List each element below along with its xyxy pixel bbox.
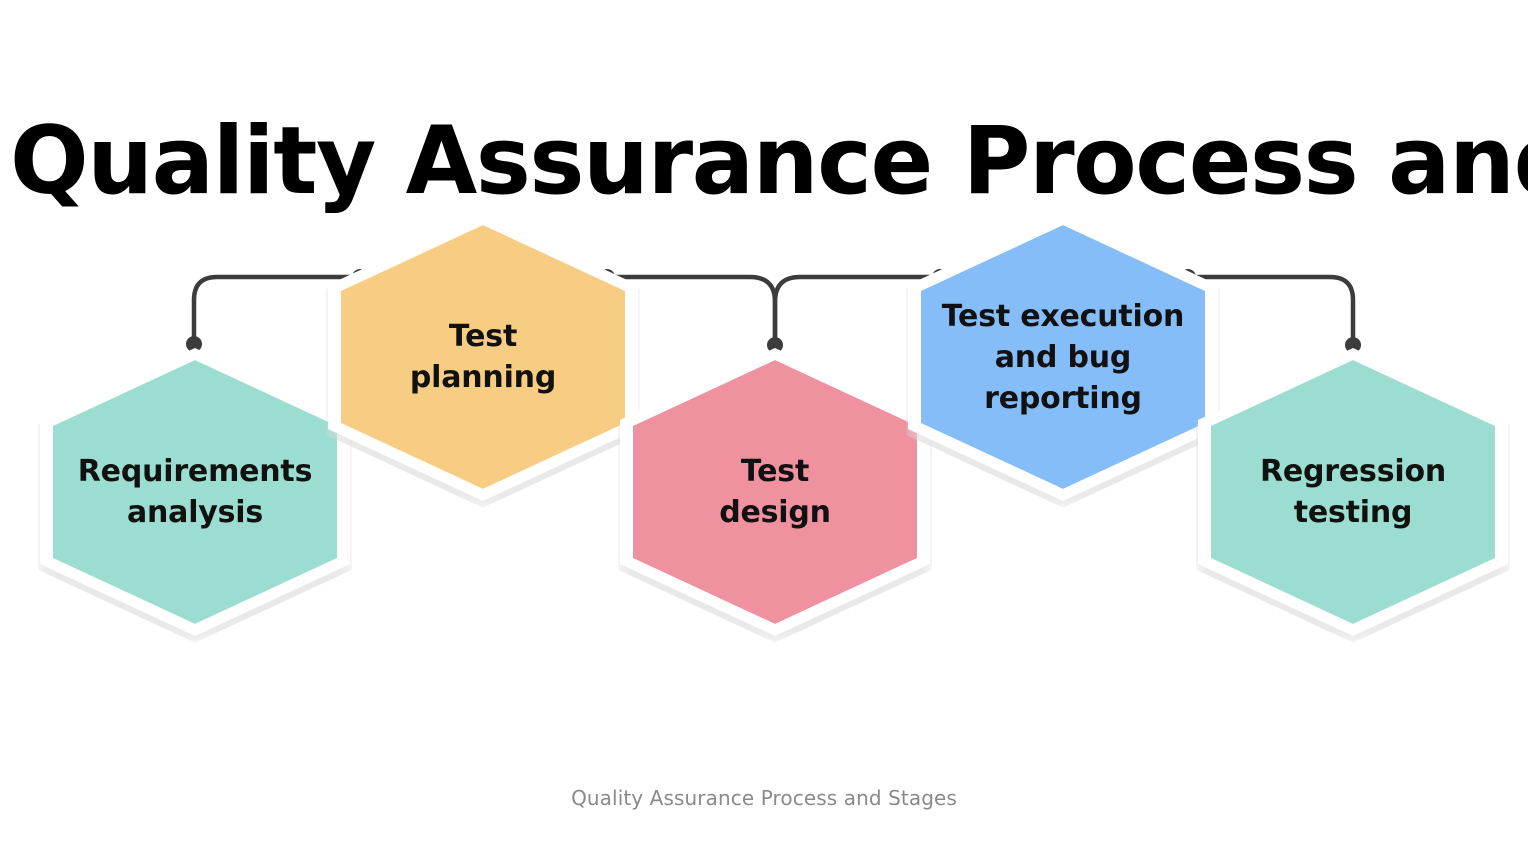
- hex-node-test-planning[interactable]: Test planning: [328, 213, 638, 501]
- hex-label-regression-testing: Regression testing: [1246, 451, 1460, 533]
- hex-label-test-execution-and-bug-reporting: Test execution and bug reporting: [928, 296, 1198, 419]
- hex-node-test-execution-and-bug-reporting[interactable]: Test execution and bug reporting: [908, 213, 1218, 501]
- hex-node-requirements-analysis[interactable]: Requirements analysis: [40, 348, 350, 636]
- hex-node-regression-testing[interactable]: Regression testing: [1198, 348, 1508, 636]
- slide-caption: Quality Assurance Process and Stages: [0, 786, 1528, 810]
- slide-canvas: Quality Assurance Process and Stages: [0, 0, 1528, 850]
- process-flow-diagram: Requirements analysis Test planning Test…: [0, 0, 1528, 720]
- hex-label-test-design: Test design: [705, 451, 845, 533]
- hex-node-test-design[interactable]: Test design: [620, 348, 930, 636]
- hex-label-requirements-analysis: Requirements analysis: [64, 451, 326, 533]
- hex-label-test-planning: Test planning: [396, 316, 570, 398]
